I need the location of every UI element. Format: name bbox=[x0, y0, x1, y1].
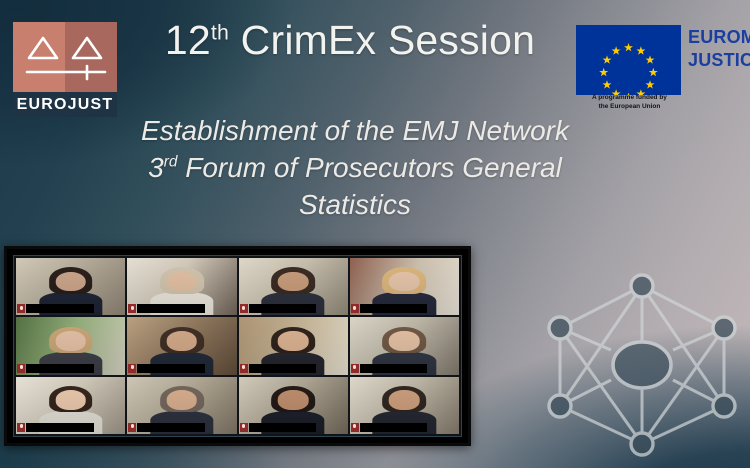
microphone-muted-icon bbox=[128, 423, 136, 432]
title-text: CrimEx Session bbox=[229, 17, 535, 63]
participant-name-redaction-bar bbox=[26, 364, 94, 373]
microphone-muted-icon bbox=[17, 364, 25, 373]
microphone-muted-icon bbox=[351, 304, 359, 313]
participant-face bbox=[55, 390, 86, 409]
microphone-muted-icon bbox=[17, 423, 25, 432]
participant-face bbox=[55, 272, 86, 291]
microphone-muted-icon bbox=[240, 304, 248, 313]
presentation-slide: EUROJUST 12th CrimEx Session Establishme… bbox=[0, 0, 750, 468]
video-participant-tile[interactable] bbox=[350, 317, 459, 374]
participant-name-redaction-bar bbox=[249, 304, 317, 313]
eu-funding-caption-line-1: A programme funded by bbox=[572, 94, 687, 103]
scales-of-justice-icon bbox=[13, 22, 117, 92]
participant-face bbox=[278, 272, 309, 291]
video-participant-tile[interactable] bbox=[16, 377, 125, 434]
euromed-wordmark-line-1: EUROMED bbox=[688, 26, 750, 49]
participant-face bbox=[55, 331, 86, 350]
subtitle-line-2-number: 3 bbox=[148, 152, 164, 183]
participant-name-redaction-bar bbox=[360, 304, 428, 313]
video-conference-inner-frame bbox=[13, 255, 462, 437]
european-union-flag-icon bbox=[576, 25, 681, 95]
video-conference-panel bbox=[4, 246, 471, 446]
video-participant-tile[interactable] bbox=[239, 258, 348, 315]
participant-face bbox=[389, 390, 420, 409]
euromed-justice-wordmark: EUROMED JUSTICE bbox=[688, 26, 750, 72]
euromed-wordmark-line-2: JUSTICE bbox=[688, 49, 750, 72]
eurojust-logo: EUROJUST bbox=[13, 22, 121, 117]
video-participant-tile[interactable] bbox=[16, 258, 125, 315]
network-nodes-icon bbox=[533, 272, 750, 458]
eu-funding-caption: A programme funded by the European Union bbox=[572, 94, 687, 112]
participant-face bbox=[167, 331, 198, 350]
video-participant-grid bbox=[16, 258, 459, 434]
title-number: 12 bbox=[165, 17, 211, 63]
subtitle-line-2: 3rd Forum of Prosecutors General bbox=[85, 149, 625, 186]
video-participant-tile[interactable] bbox=[350, 377, 459, 434]
participant-name-redaction-bar bbox=[26, 423, 94, 432]
microphone-muted-icon bbox=[240, 423, 248, 432]
euromed-justice-logo: A programme funded by the European Union… bbox=[572, 8, 750, 110]
subtitle-line-1: Establishment of the EMJ Network bbox=[85, 112, 625, 149]
microphone-muted-icon bbox=[351, 364, 359, 373]
eurojust-wordmark: EUROJUST bbox=[17, 96, 114, 114]
participant-name-redaction-bar bbox=[137, 423, 205, 432]
video-participant-tile[interactable] bbox=[239, 317, 348, 374]
subtitle-line-2-ordinal: rd bbox=[164, 154, 178, 171]
microphone-muted-icon bbox=[240, 364, 248, 373]
participant-face bbox=[167, 272, 198, 291]
participant-face bbox=[389, 331, 420, 350]
subtitle-line-2-text: Forum of Prosecutors General bbox=[177, 152, 561, 183]
video-participant-tile[interactable] bbox=[350, 258, 459, 315]
participant-name-redaction-bar bbox=[137, 304, 205, 313]
microphone-muted-icon bbox=[351, 423, 359, 432]
slide-title: 12th CrimEx Session bbox=[140, 17, 560, 64]
video-participant-tile[interactable] bbox=[239, 377, 348, 434]
slide-subtitle: Establishment of the EMJ Network 3rd For… bbox=[85, 112, 625, 224]
microphone-muted-icon bbox=[128, 304, 136, 313]
participant-name-redaction-bar bbox=[137, 364, 205, 373]
video-participant-tile[interactable] bbox=[127, 258, 236, 315]
participant-name-redaction-bar bbox=[360, 364, 428, 373]
subtitle-line-3: Statistics bbox=[85, 186, 625, 223]
microphone-muted-icon bbox=[17, 304, 25, 313]
participant-face bbox=[278, 390, 309, 409]
video-participant-tile[interactable] bbox=[127, 377, 236, 434]
microphone-muted-icon bbox=[128, 364, 136, 373]
participant-face bbox=[278, 331, 309, 350]
participant-face bbox=[389, 272, 420, 291]
title-ordinal-suffix: th bbox=[211, 20, 229, 44]
participant-name-redaction-bar bbox=[249, 364, 317, 373]
video-participant-tile[interactable] bbox=[16, 317, 125, 374]
participant-name-redaction-bar bbox=[249, 423, 317, 432]
participant-face bbox=[167, 390, 198, 409]
video-participant-tile[interactable] bbox=[127, 317, 236, 374]
participant-name-redaction-bar bbox=[26, 304, 94, 313]
eu-funding-caption-line-2: the European Union bbox=[572, 103, 687, 112]
participant-name-redaction-bar bbox=[360, 423, 428, 432]
